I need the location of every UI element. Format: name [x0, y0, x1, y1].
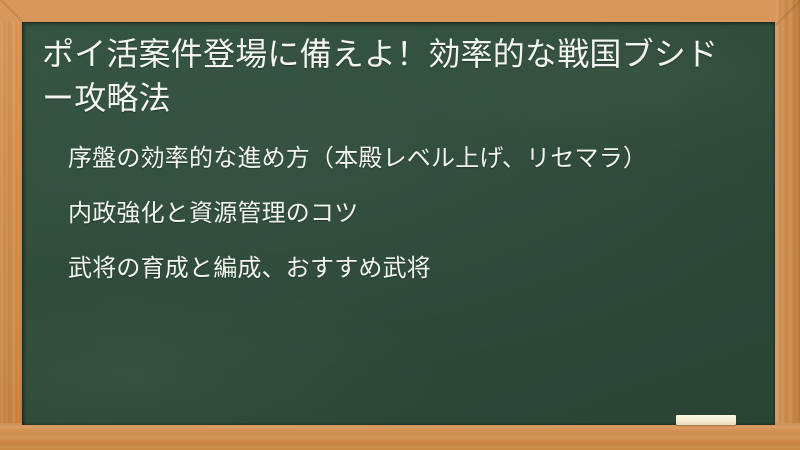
slide-title: ポイ活案件登場に備えよ！効率的な戦国ブシドー攻略法 [32, 32, 755, 120]
frame-rail-top [0, 0, 800, 22]
slide-bullet-list: 序盤の効率的な進め方（本殿レベル上げ、リセマラ） 内政強化と資源管理のコツ 武将… [32, 142, 755, 286]
slide-bullet-item-1: 序盤の効率的な進め方（本殿レベル上げ、リセマラ） [68, 142, 735, 177]
chalk-stick-icon [676, 415, 736, 425]
blackboard-surface: ポイ活案件登場に備えよ！効率的な戦国ブシドー攻略法 序盤の効率的な進め方（本殿レ… [22, 22, 775, 425]
blackboard-content: ポイ活案件登場に備えよ！効率的な戦国ブシドー攻略法 序盤の効率的な進め方（本殿レ… [22, 22, 775, 425]
slide-bullet-item-2: 内政強化と資源管理のコツ [68, 197, 735, 232]
slide-bullet-item-3: 武将の育成と編成、おすすめ武将 [68, 252, 735, 287]
blackboard-slide: ポイ活案件登場に備えよ！効率的な戦国ブシドー攻略法 序盤の効率的な進め方（本殿レ… [0, 0, 800, 450]
frame-chalk-tray [0, 423, 800, 450]
frame-rail-right [775, 0, 800, 450]
